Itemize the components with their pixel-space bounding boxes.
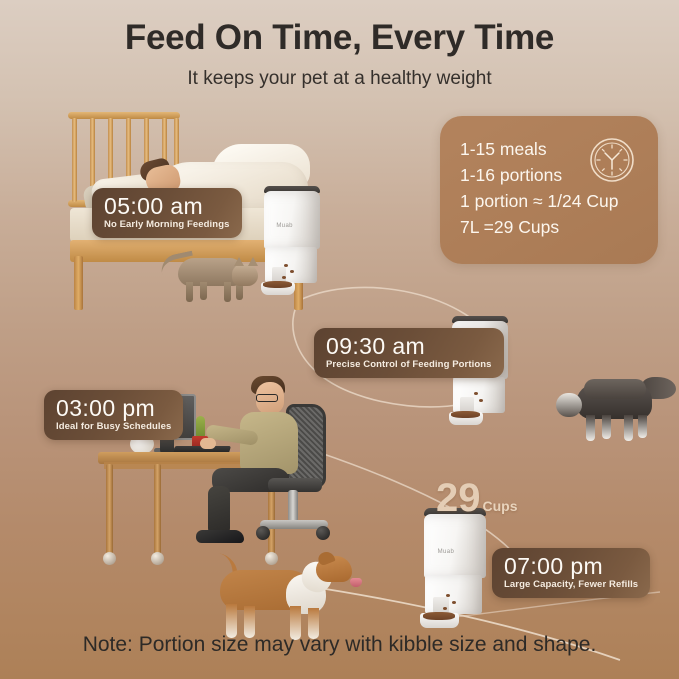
kibble — [282, 276, 286, 279]
feeder-chute — [460, 397, 475, 412]
cat-fur — [584, 379, 646, 399]
cat-head — [556, 393, 582, 417]
spec-line-capacity: 7L =29 Cups — [460, 214, 618, 240]
cat-leg — [586, 415, 595, 441]
kibble — [479, 399, 483, 402]
product-infographic: Feed On Time, Every Time It keeps your p… — [0, 0, 679, 679]
badge-caption: Ideal for Busy Schedules — [56, 421, 171, 433]
desk-plant — [196, 416, 205, 438]
cat-ear — [234, 257, 244, 266]
time-badge-0700pm[interactable]: 07:00 pm Large Capacity, Fewer Refills — [492, 548, 650, 598]
capacity-unit: Cups — [483, 498, 518, 514]
person-hand — [200, 438, 216, 449]
time-badge-0300pm[interactable]: 03:00 pm Ideal for Busy Schedules — [44, 390, 183, 440]
desk-leg — [106, 464, 113, 554]
brand-logo: Muab — [438, 549, 455, 555]
pet-feeder-evening: Muab — [424, 508, 486, 622]
capacity-label: 29Cups — [436, 478, 518, 518]
badge-caption: Precise Control of Feeding Portions — [326, 359, 492, 371]
chair-post — [288, 490, 298, 522]
desk-leg — [154, 464, 161, 554]
tabby-cat — [160, 248, 272, 304]
kibble-in-bowl — [451, 411, 480, 418]
spec-card: 1-15 meals 1-16 portions 1 portion ≈ 1/2… — [440, 116, 658, 264]
feeder-hopper — [424, 514, 486, 578]
chair-caster — [316, 526, 330, 540]
kibble — [452, 601, 456, 604]
person-shin — [208, 486, 230, 536]
kibble — [474, 392, 478, 395]
desk-caster — [103, 552, 116, 565]
cat-head — [232, 264, 258, 286]
dog-tongue — [350, 578, 362, 587]
kibble — [443, 607, 447, 610]
kibble — [284, 264, 288, 267]
bed-leg — [74, 256, 83, 310]
cat-leg — [224, 282, 231, 302]
feeder-chute — [433, 597, 449, 613]
kibble-in-bowl — [423, 612, 455, 620]
pet-feeder-bedroom: Muab — [264, 186, 320, 290]
cat-leg — [602, 415, 611, 439]
kibble-in-bowl — [263, 281, 292, 288]
cat-leg — [638, 415, 647, 438]
kibble — [290, 270, 294, 273]
fluffy-cat — [558, 375, 676, 447]
badge-caption: No Early Morning Feedings — [104, 219, 230, 231]
clock-icon — [588, 136, 636, 184]
capacity-number: 29 — [436, 476, 481, 520]
footer-note: Note: Portion size may vary with kibble … — [0, 633, 679, 657]
spec-line-portion-size: 1 portion ≈ 1/24 Cup — [460, 188, 618, 214]
cat-leg — [624, 415, 633, 441]
badge-time: 03:00 pm — [56, 395, 171, 421]
brand-logo: Muab — [276, 223, 293, 229]
feeder-chute — [272, 267, 287, 282]
badge-time: 07:00 pm — [504, 553, 638, 579]
badge-caption: Large Capacity, Fewer Refills — [504, 579, 638, 591]
feeder-hopper — [264, 191, 320, 249]
cat-leg — [186, 282, 193, 302]
badge-time: 09:30 am — [326, 333, 492, 359]
time-badge-0930am[interactable]: 09:30 am Precise Control of Feeding Port… — [314, 328, 504, 378]
badge-time: 05:00 am — [104, 193, 230, 219]
person-shoe — [196, 530, 244, 543]
cat-ear — [248, 257, 258, 266]
dog — [198, 548, 376, 644]
desk-caster — [151, 552, 164, 565]
time-badge-0500am[interactable]: 05:00 am No Early Morning Feedings — [92, 188, 242, 238]
chair-caster — [256, 526, 270, 540]
eyeglasses — [256, 394, 278, 402]
kibble — [446, 594, 450, 597]
cat-leg — [200, 282, 207, 300]
